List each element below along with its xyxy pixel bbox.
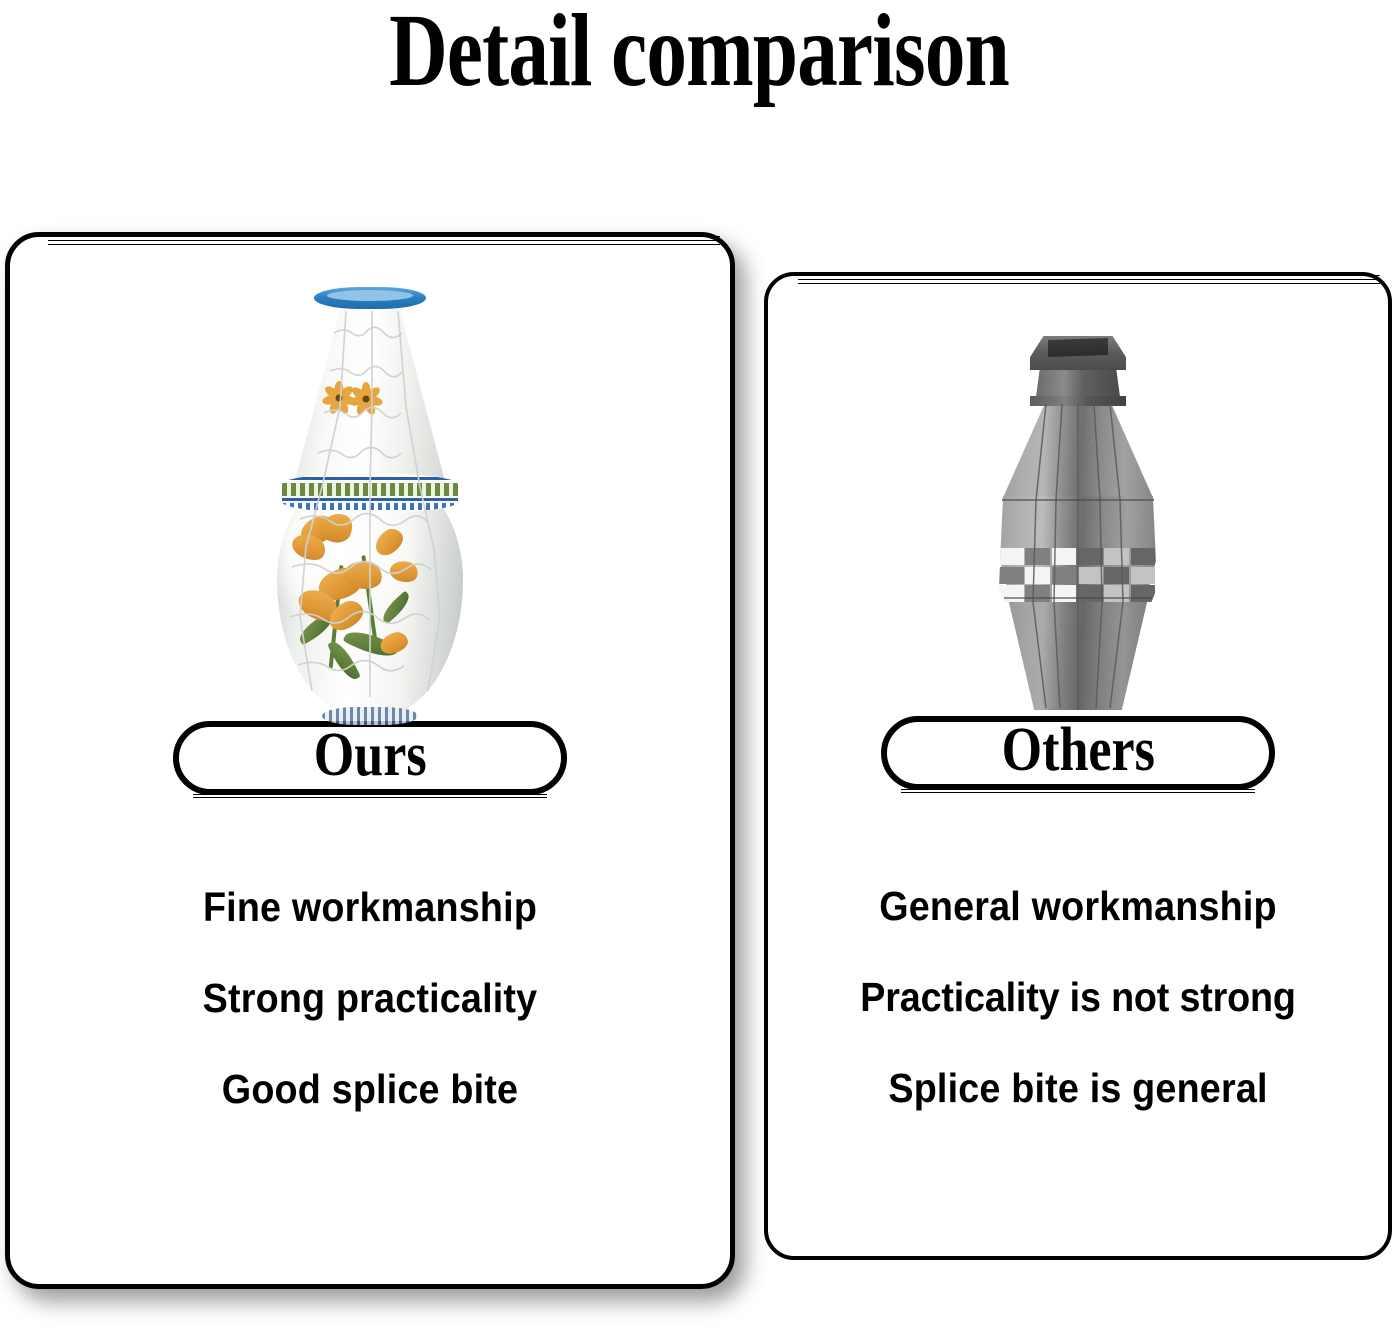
feature-item: Fine workmanship — [39, 887, 701, 928]
badge-container-ours: Ours — [10, 721, 730, 795]
badge-ours: Ours — [173, 721, 567, 795]
panel-top-rule-ours — [48, 236, 720, 245]
comparison-panel-ours: Ours Fine workmanship Strong practicalit… — [5, 232, 735, 1289]
feature-item: Splice bite is general — [793, 1068, 1363, 1109]
vase-collar-lip — [1030, 396, 1126, 406]
feature-item: Good splice bite — [39, 1069, 701, 1110]
vase-shoulder — [1002, 404, 1154, 500]
vase-lower-body — [1005, 598, 1151, 710]
feature-item: Practicality is not strong — [793, 977, 1363, 1018]
vase-rim-opening — [327, 290, 413, 301]
vase-opening — [1048, 338, 1108, 357]
vase-checker-band — [999, 548, 1157, 604]
badge-others: Others — [881, 716, 1275, 790]
daisy-flower — [324, 383, 354, 413]
product-image-ours — [10, 257, 730, 727]
grey-brick-vase-illustration — [978, 336, 1178, 716]
feature-list-others: General workmanship Practicality is not … — [768, 886, 1388, 1159]
badge-rule-ours — [193, 790, 547, 798]
feature-list-ours: Fine workmanship Strong practicality Goo… — [10, 887, 730, 1160]
badge-label-others: Others — [1001, 719, 1154, 781]
daisy-flower — [352, 385, 380, 413]
vase-decorative-band — [282, 473, 458, 513]
porcelain-floral-vase-illustration — [260, 287, 480, 727]
badge-label-ours: Ours — [314, 724, 427, 786]
comparison-panel-others: Others General workmanship Practicality … — [764, 272, 1392, 1260]
feature-item: General workmanship — [793, 886, 1363, 927]
badge-rule-others — [901, 785, 1255, 793]
comparison-infographic: Detail comparison — [0, 0, 1398, 1330]
page-title: Detail comparison — [154, 0, 1244, 105]
product-image-others — [768, 316, 1388, 716]
iris-flower-cluster — [282, 513, 432, 689]
panel-top-rule-others — [798, 275, 1380, 284]
badge-container-others: Others — [768, 716, 1388, 790]
vase-base-ring — [322, 707, 418, 725]
feature-item: Strong practicality — [39, 978, 701, 1019]
